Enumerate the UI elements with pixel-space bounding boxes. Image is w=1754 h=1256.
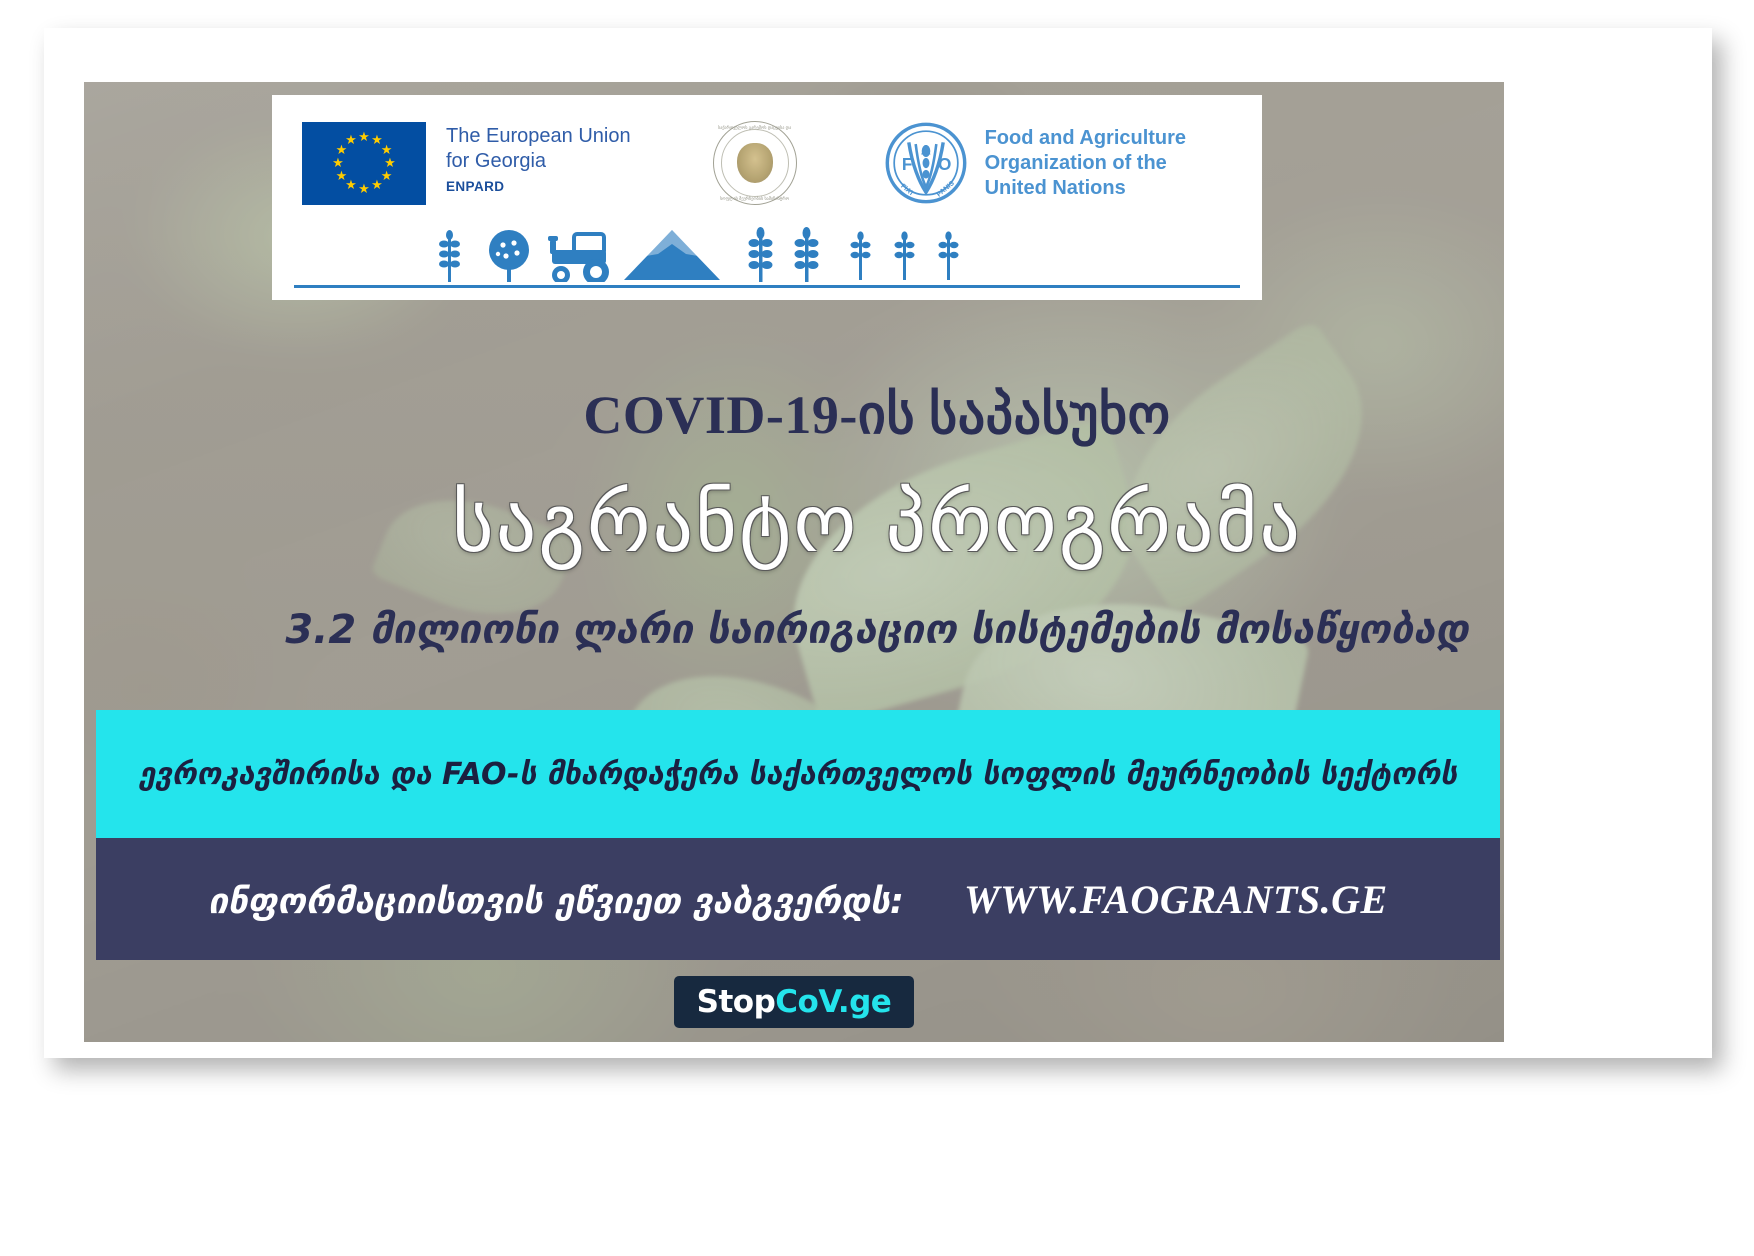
svg-text:F: F (901, 154, 912, 174)
stopcov-wordmark: StopCoV.ge (697, 984, 892, 1020)
eu-line2: for Georgia (446, 149, 631, 174)
emblem-microtext-bottom: სოფლის მეურნეობის სამინისტრო (713, 196, 797, 201)
dark-banner-prefix: ინფორმაციისთვის ეწვიეთ ვაბგვერდს: (184, 882, 940, 922)
dark-website-banner[interactable]: ინფორმაციისთვის ეწვიეთ ვაბგვერდს: WWW.FA… (96, 838, 1500, 960)
pictogram-band (272, 217, 1262, 300)
website-url[interactable]: WWW.FAOGRANTS.GE (940, 877, 1412, 922)
dark-banner-text: ინფორმაციისთვის ეწვიეთ ვაბგვერდს: WWW.FA… (160, 876, 1435, 923)
fruit-tree-icon (489, 230, 529, 282)
fao-logo: F A O FIAT PANIS Food and Agriculture Or… (883, 120, 1186, 206)
headline-covid-response: COVID-19-ის საპასუხო (0, 383, 1754, 446)
wheat-icon (939, 231, 959, 280)
headline-grant-programme: საგრანტო პროგრამა (0, 478, 1754, 570)
eu-flag-star: ★ (380, 144, 393, 157)
eu-flag-star: ★ (371, 179, 384, 192)
eu-flag-star: ★ (358, 131, 371, 144)
eu-logo-text: The European Union for Georgia ENPARD (446, 122, 631, 194)
fao-line3: United Nations (985, 176, 1186, 201)
wheat-icon (439, 230, 460, 282)
eu-flag-star: ★ (358, 183, 371, 196)
svg-text:O: O (938, 154, 951, 174)
mountain-icon (624, 230, 720, 280)
svg-text:A: A (920, 142, 930, 157)
headline-grant-amount: 3.2 მილიონი ლარი საირიგაციო სისტემების მ… (0, 607, 1754, 653)
tractor-icon (548, 234, 609, 282)
eu-flag-icon: ★★★★★★★★★★★★ (302, 122, 426, 205)
eu-logo: ★★★★★★★★★★★★ The European Union for Geor… (302, 122, 631, 205)
logo-strip: ★★★★★★★★★★★★ The European Union for Geor… (272, 95, 1262, 300)
poster-slide: ★★★★★★★★★★★★ The European Union for Geor… (0, 0, 1754, 1256)
wheat-icon (795, 227, 819, 282)
eu-flag-star: ★ (335, 170, 348, 183)
wheat-icon (895, 231, 915, 280)
eu-flag-star: ★ (345, 134, 358, 147)
cyan-banner-text: ევროკავშირისა და FAO-ს მხარდაჭერა საქართ… (111, 757, 1485, 792)
fao-emblem-icon: F A O FIAT PANIS (883, 120, 969, 206)
agriculture-pictograms (272, 226, 1222, 282)
fao-line1: Food and Agriculture (985, 126, 1186, 151)
stopcov-part2: CoV.ge (775, 984, 891, 1020)
eu-programme-label: ENPARD (446, 179, 631, 194)
eu-flag-star: ★ (332, 157, 345, 170)
wheat-icon (749, 227, 773, 282)
eu-flag-star: ★ (384, 157, 397, 170)
logo-row: ★★★★★★★★★★★★ The European Union for Geor… (272, 95, 1262, 217)
wheat-icon (851, 231, 871, 280)
stopcov-badge[interactable]: StopCoV.ge (674, 976, 914, 1028)
emblem-microtext-top: საქართველოს გარემოს დაცვისა და (713, 125, 797, 130)
emblem-microtext: საქართველოს გარემოს დაცვისა და სოფლის მე… (713, 121, 797, 205)
government-emblem-icon: საქართველოს გარემოს დაცვისა და სოფლის მე… (713, 121, 797, 205)
eu-line1: The European Union (446, 124, 631, 149)
blue-rule-divider (294, 285, 1240, 288)
fao-logo-text: Food and Agriculture Organization of the… (985, 126, 1186, 201)
stopcov-part1: Stop (697, 984, 776, 1020)
cyan-support-banner: ევროკავშირისა და FAO-ს მხარდაჭერა საქართ… (96, 710, 1500, 838)
fao-line2: Organization of the (985, 151, 1186, 176)
